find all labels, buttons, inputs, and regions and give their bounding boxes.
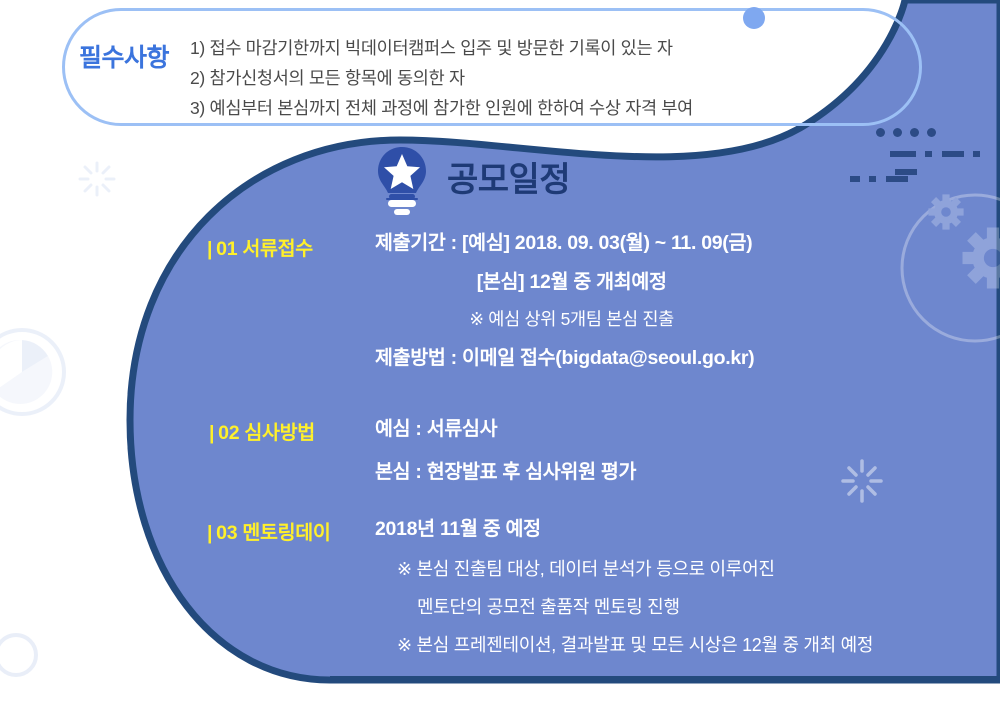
deco-dash-row-2 [850, 170, 908, 188]
schedule-line: 제출기간 : [예심] 2018. 09. 03(월) ~ 11. 09(금) [375, 226, 754, 255]
schedule-line: ※ 본심 진출팀 대상, 데이터 분석가 등으로 이루어진 [375, 555, 873, 581]
requirement-item: 3) 예심부터 본심까지 전체 과정에 참가한 인원에 한하여 수상 자격 부여 [190, 93, 693, 123]
tag-bar-icon: | [207, 522, 212, 545]
bottom-rule [330, 676, 1000, 683]
tag-bar-icon: | [207, 238, 212, 261]
schedule-line: 제출방법 : 이메일 접수(bigdata@seoul.go.kr) [375, 341, 754, 370]
deco-dot [893, 128, 902, 137]
schedule-line: [본심] 12월 중 개최예정 [375, 265, 754, 294]
section-header: 공모일정 [375, 145, 570, 219]
schedule-line: ※ 본심 프레젠테이션, 결과발표 및 모든 시상은 12월 중 개최 예정 [375, 631, 873, 657]
schedule-row-tag: |02 심사방법 [209, 416, 315, 445]
requirement-item: 2) 참가신청서의 모든 항목에 동의한 자 [190, 63, 693, 93]
poster-canvas: 필수사항 1) 접수 마감기한까지 빅데이터캠퍼스 입주 및 방문한 기록이 있… [0, 0, 1000, 708]
page-title: 공모일정 [447, 163, 570, 201]
deco-dots-row [876, 124, 944, 142]
deco-dot [876, 128, 885, 137]
requirement-item: 1) 접수 마감기한까지 빅데이터캠퍼스 입주 및 방문한 기록이 있는 자 [190, 33, 693, 63]
tag-bar-icon: | [209, 422, 214, 445]
schedule-row-body: 제출기간 : [예심] 2018. 09. 03(월) ~ 11. 09(금) … [375, 226, 754, 370]
schedule-row-tag: |03 멘토링데이 [207, 516, 331, 545]
schedule-line: 2018년 11월 중 예정 [375, 512, 873, 541]
requirements-label: 필수사항 [79, 38, 169, 74]
tag-label: 02 심사방법 [218, 422, 315, 444]
lightbulb-star-icon [375, 145, 429, 219]
schedule-row-tag: |01 서류접수 [207, 232, 313, 261]
schedule-row-body: 2018년 11월 중 예정 ※ 본심 진출팀 대상, 데이터 분석가 등으로 … [375, 512, 873, 657]
requirements-list: 1) 접수 마감기한까지 빅데이터캠퍼스 입주 및 방문한 기록이 있는 자 2… [190, 33, 693, 123]
schedule-line: 멘토단의 공모전 출품작 멘토링 진행 [375, 593, 873, 619]
slider-handle-icon [743, 7, 765, 29]
deco-dot [910, 128, 919, 137]
pie-chart-icon [0, 330, 64, 414]
circle-outline-icon [0, 635, 36, 675]
schedule-row-body: 예심 : 서류심사 본심 : 현장발표 후 심사위원 평가 [375, 412, 636, 484]
deco-dot [927, 128, 936, 137]
schedule-line: 예심 : 서류심사 [375, 412, 636, 441]
schedule-line: ※ 예심 상위 5개팀 본심 진출 [375, 306, 754, 331]
sparkle-icon [80, 163, 114, 195]
tag-label: 03 멘토링데이 [216, 522, 330, 544]
plus-icon [105, 489, 131, 515]
schedule-line: 본심 : 현장발표 후 심사위원 평가 [375, 455, 636, 484]
tag-label: 01 서류접수 [216, 238, 313, 260]
